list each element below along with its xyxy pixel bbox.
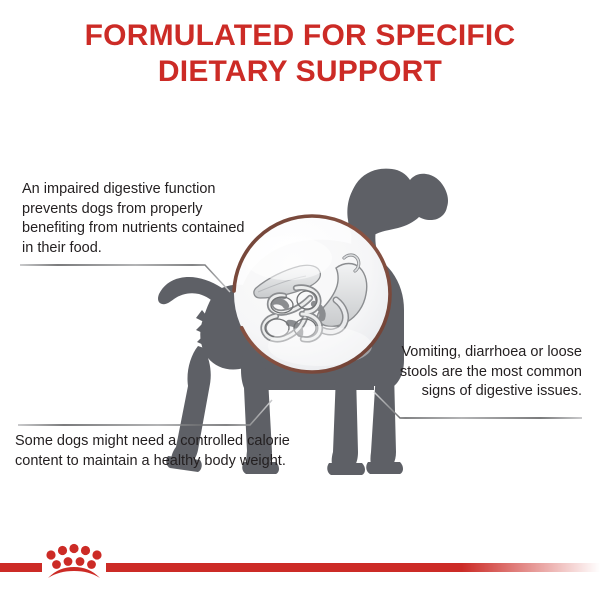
royal-canin-crown-logo	[42, 540, 106, 584]
callout-text-calorie-content: Some dogs might need a controlled calori…	[15, 432, 300, 471]
dog-digestive-illustration	[0, 0, 600, 600]
footer-rule-right	[106, 563, 600, 572]
callout-text-digestive-signs: Vomiting, diarrhoea or loose stools are …	[398, 343, 582, 402]
lens-highlight	[244, 236, 332, 280]
footer-rule-left	[0, 563, 42, 572]
callout-text-digestive-function: An impaired digestive function prevents …	[22, 180, 247, 258]
infographic-page: FORMULATED FOR SPECIFIC DIETARY SUPPORT	[0, 0, 600, 600]
